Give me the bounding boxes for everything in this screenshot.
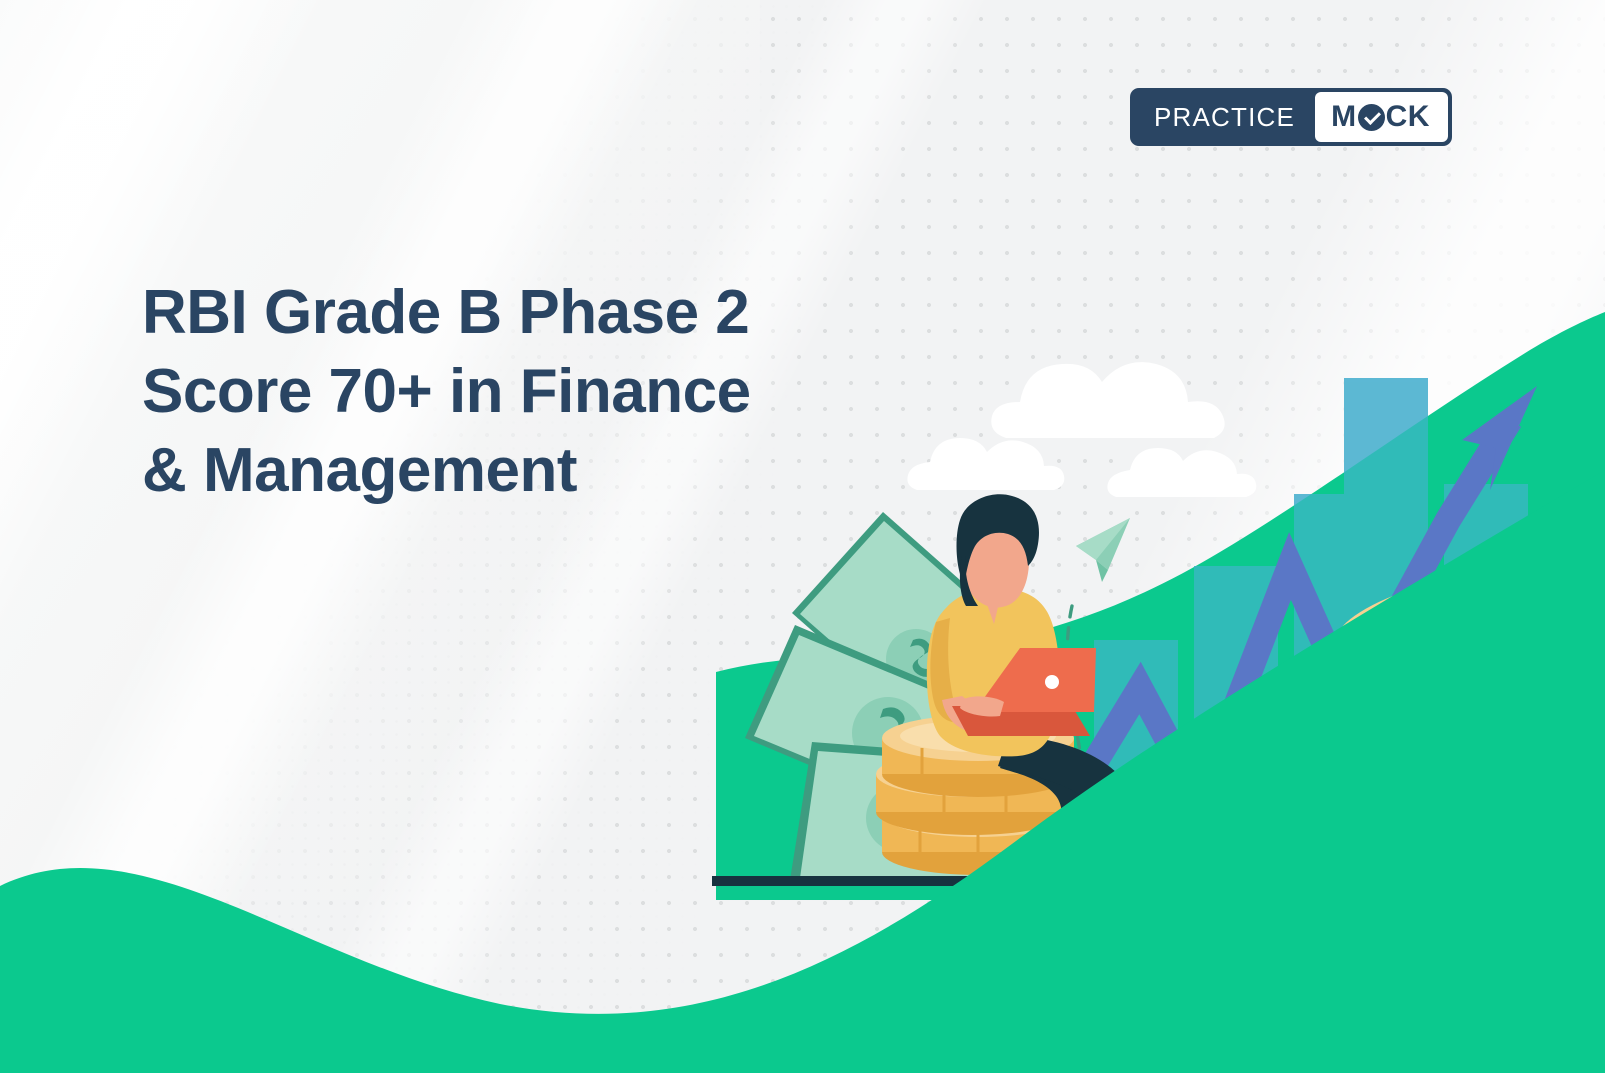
cloud-small-right xyxy=(1107,448,1256,497)
logo-mock-ck: CK xyxy=(1386,100,1430,134)
page-title: RBI Grade B Phase 2 Score 70+ in Finance… xyxy=(142,273,922,511)
paper-plane-icon xyxy=(1076,518,1130,582)
logo-mock-m: M xyxy=(1331,100,1357,134)
laptop-logo-dot xyxy=(1045,675,1059,689)
cloud-small-left xyxy=(907,438,1064,490)
cloud-large xyxy=(991,362,1224,438)
page-title-line-3: & Management xyxy=(142,431,922,510)
logo-text-practice: PRACTICE xyxy=(1130,88,1315,146)
banner-root: PRACTICE M CK RBI Grade B Phase 2 Score … xyxy=(0,0,1605,1073)
page-title-line-1: RBI Grade B Phase 2 xyxy=(142,273,922,352)
page-title-line-2: Score 70+ in Finance xyxy=(142,352,922,431)
logo-text-mock: M CK xyxy=(1315,92,1448,142)
check-circle-icon xyxy=(1358,104,1385,131)
practicemock-logo[interactable]: PRACTICE M CK xyxy=(1130,88,1452,146)
finance-growth-illustration xyxy=(0,0,1605,1073)
